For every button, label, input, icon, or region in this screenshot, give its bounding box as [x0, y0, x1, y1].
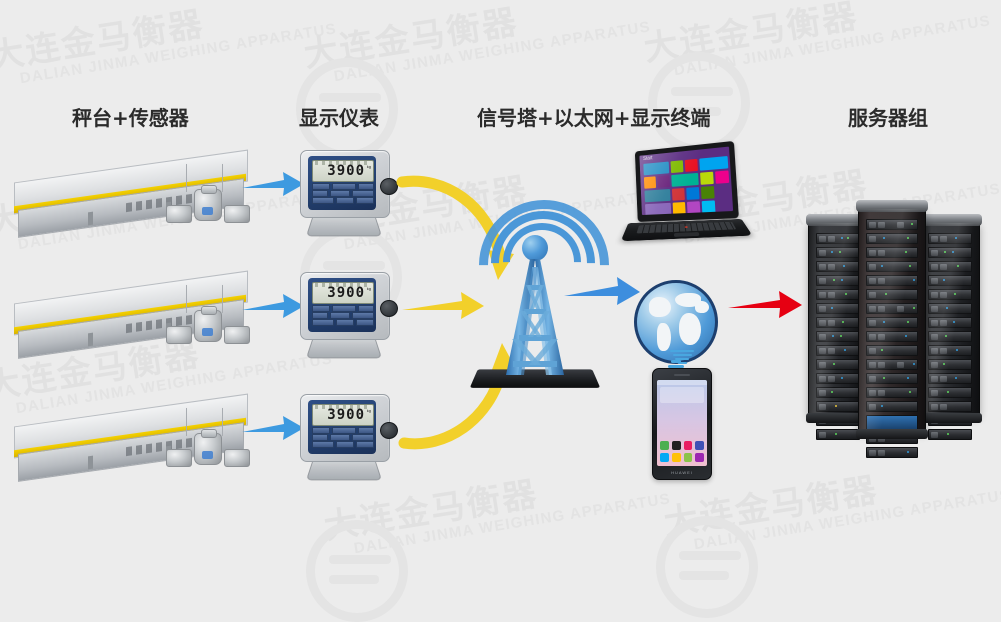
indicator-body: 3900 kg [300, 272, 390, 340]
server-unit [866, 233, 918, 244]
indicator-display: 3900 kg [312, 282, 374, 304]
indicator-keypad[interactable] [312, 305, 372, 328]
load-cell-icon [194, 310, 222, 342]
watermark: 大连金马衡器 DALIAN JINMA WEIGHING APPARATUS [640, 0, 992, 83]
load-cell-group [166, 189, 250, 227]
indicator-side-knob[interactable] [380, 178, 398, 195]
phone-app-grid[interactable] [660, 441, 704, 462]
watermark-cn: 大连金马衡器 [0, 0, 336, 78]
server-unit [928, 331, 972, 342]
indicator-unit-label: kg [367, 286, 371, 291]
wave-line [678, 362, 687, 364]
server-unit [928, 387, 972, 398]
server-unit [866, 219, 918, 230]
server-unit [866, 401, 918, 412]
phone-brand-label: HUAWEI [671, 470, 693, 475]
load-cell-icon [224, 326, 250, 344]
arrow-globe-to-servers [726, 288, 810, 322]
server-unit [866, 289, 918, 300]
load-cell-icon [166, 449, 192, 467]
server-unit [928, 401, 972, 412]
watermark-logo-icon [306, 520, 408, 622]
app-icon[interactable] [695, 453, 704, 462]
trackpoint-nub[interactable] [685, 226, 688, 228]
phone-signal-waves [670, 350, 694, 366]
app-icon[interactable] [695, 441, 704, 450]
indicator-side-knob[interactable] [380, 300, 398, 317]
header-indicator: 显示仪表 [299, 102, 379, 131]
watermark-en: DALIAN JINMA WEIGHING APPARATUS [693, 486, 1001, 553]
server-unit [866, 359, 918, 370]
indicator-face: 3900 kg [308, 156, 376, 210]
laptop-keyboard-base[interactable] [621, 219, 753, 241]
rack-units [866, 219, 918, 421]
server-status-panel [866, 415, 918, 430]
rack-units [816, 233, 860, 405]
rack-top-cap [856, 200, 928, 212]
indicator-weight-value: 3900 [327, 285, 365, 301]
app-icon[interactable] [672, 441, 681, 450]
app-icon[interactable] [684, 453, 693, 462]
watermark-cn: 大连金马衡器 [640, 0, 990, 70]
indicator-unit-label: kg [367, 408, 371, 413]
server-rack [858, 208, 926, 432]
watermark-en: DALIAN JINMA WEIGHING APPARATUS [333, 18, 652, 85]
server-unit [928, 275, 972, 286]
server-unit [928, 289, 972, 300]
server-rack-group [800, 200, 985, 450]
indicator-keypad[interactable] [312, 183, 372, 206]
scale-leg [88, 456, 93, 470]
server-unit [816, 387, 860, 398]
wave-line [675, 358, 689, 360]
app-icon[interactable] [672, 453, 681, 462]
server-unit [816, 289, 860, 300]
deck-seam [186, 164, 187, 192]
indicator-side-knob[interactable] [380, 422, 398, 439]
deck-seam [222, 164, 223, 192]
server-unit [866, 373, 918, 384]
server-unit [866, 247, 918, 258]
watermark-en: DALIAN JINMA WEIGHING APPARATUS [353, 490, 672, 557]
header-server-group: 服务器组 [848, 102, 928, 131]
weighing-indicator[interactable]: 3900 kg [296, 392, 394, 484]
server-unit [816, 303, 860, 314]
load-cell-icon [224, 449, 250, 467]
landmass [649, 297, 671, 317]
diagram-canvas: 大连金马衡器 DALIAN JINMA WEIGHING APPARATUS 大… [0, 0, 1001, 574]
indicator-keypad[interactable] [312, 427, 372, 450]
server-unit [866, 447, 918, 458]
laptop-terminal[interactable]: Start [626, 146, 748, 254]
laptop-trackpad[interactable] [674, 232, 700, 237]
server-unit [866, 331, 918, 342]
server-unit [928, 261, 972, 272]
app-icon[interactable] [660, 441, 669, 450]
scale-leg [88, 212, 93, 226]
header-tower-terminal: 信号塔+以太网+显示终端 [477, 102, 711, 131]
server-unit [928, 317, 972, 328]
watermark-en: DALIAN JINMA WEIGHING APPARATUS [19, 20, 338, 87]
phone-earpiece [674, 374, 690, 376]
mobile-terminal[interactable]: HUAWEI [652, 368, 712, 480]
server-unit [816, 401, 860, 412]
screen-glare [639, 147, 733, 215]
indicator-display: 3900 kg [312, 160, 374, 182]
server-unit [866, 261, 918, 272]
indicator-weight-value: 3900 [327, 407, 365, 423]
server-unit [928, 373, 972, 384]
server-unit [816, 317, 860, 328]
scale-leg [88, 333, 93, 347]
indicator-body: 3900 kg [300, 394, 390, 462]
phone-body: HUAWEI [652, 368, 712, 480]
load-cell-icon [194, 189, 222, 221]
rack-foot [856, 429, 928, 439]
load-cell-icon [166, 205, 192, 223]
server-unit [816, 261, 860, 272]
laptop-screen: Start [639, 147, 733, 215]
indicator-weight-value: 3900 [327, 163, 365, 179]
deck-seam [222, 285, 223, 313]
load-cell-icon [194, 433, 222, 465]
watermark: 大连金马衡器 DALIAN JINMA WEIGHING APPARATUS [0, 0, 338, 91]
server-unit [928, 429, 972, 440]
server-unit [816, 429, 860, 440]
wave-line [673, 354, 692, 356]
landmass [679, 313, 701, 345]
server-unit [928, 359, 972, 370]
server-unit [928, 345, 972, 356]
server-rack [920, 222, 980, 416]
weighing-indicator[interactable]: 3900 kg [296, 148, 394, 240]
rack-top-cap [918, 214, 982, 226]
app-icon[interactable] [660, 453, 669, 462]
server-unit [866, 317, 918, 328]
server-unit [816, 247, 860, 258]
rack-foot [918, 413, 982, 423]
indicator-face: 3900 kg [308, 278, 376, 332]
watermark: 大连金马衡器 DALIAN JINMA WEIGHING APPARATUS [300, 0, 652, 89]
load-cell-icon [224, 205, 250, 223]
landmass [657, 323, 671, 351]
server-unit [816, 373, 860, 384]
server-unit [866, 345, 918, 356]
server-unit [866, 387, 918, 398]
indicator-face: 3900 kg [308, 400, 376, 454]
server-unit [866, 303, 918, 314]
server-unit [816, 359, 860, 370]
wave-line [670, 350, 694, 352]
server-unit [816, 345, 860, 356]
deck-seam [186, 285, 187, 313]
server-unit [816, 275, 860, 286]
watermark-cn: 大连金马衡器 [300, 0, 650, 76]
rack-units [928, 233, 972, 405]
app-icon[interactable] [684, 441, 693, 450]
server-unit [816, 331, 860, 342]
watermark-logo-icon [656, 516, 758, 618]
header-scale-sensor: 秤台+传感器 [72, 102, 189, 131]
landmass [695, 301, 709, 313]
phone-widget[interactable] [660, 387, 704, 403]
server-unit [866, 275, 918, 286]
server-unit [816, 233, 860, 244]
watermark-en: DALIAN JINMA WEIGHING APPARATUS [673, 12, 992, 79]
indicator-body: 3900 kg [300, 150, 390, 218]
load-cell-group [166, 433, 250, 471]
weighing-indicator[interactable]: 3900 kg [296, 270, 394, 362]
indicator-unit-label: kg [367, 164, 371, 169]
server-unit [928, 233, 972, 244]
laptop-lid: Start [635, 141, 739, 222]
server-unit [928, 303, 972, 314]
deck-seam [186, 408, 187, 436]
load-cell-group [166, 310, 250, 348]
server-unit [928, 247, 972, 258]
deck-seam [222, 408, 223, 436]
load-cell-icon [166, 326, 192, 344]
indicator-display: 3900 kg [312, 404, 374, 426]
phone-status-bar [657, 380, 707, 385]
phone-screen[interactable] [657, 380, 707, 466]
